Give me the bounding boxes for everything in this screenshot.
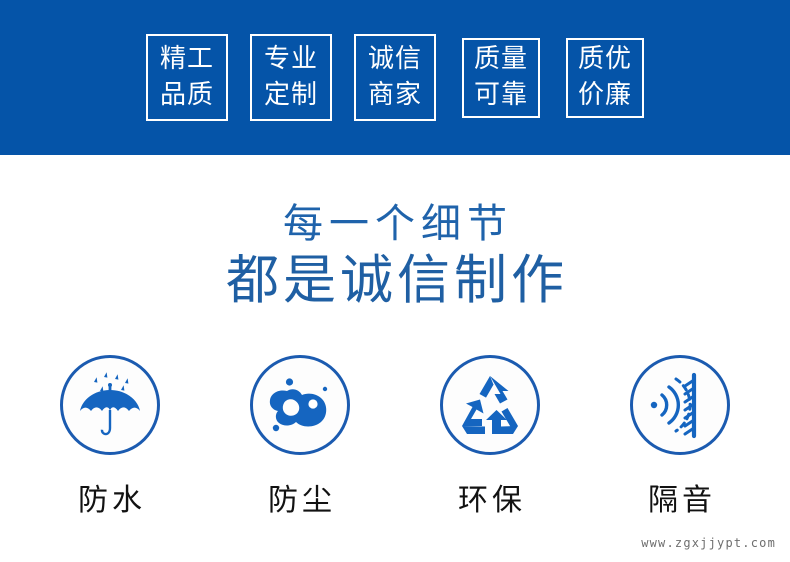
badge-reliable: 质量 可靠: [462, 38, 540, 118]
badge-reliable-line2: 可靠: [474, 78, 528, 114]
badge-reliable-line1: 质量: [474, 42, 528, 78]
badge-value-line1: 质优: [578, 42, 632, 78]
feature-dustproof-circle: [250, 355, 350, 455]
feature-waterproof-label: 防水: [74, 475, 146, 519]
badge-integrity: 诚信 商家: [354, 34, 436, 121]
feature-waterproof: 防水: [15, 355, 205, 519]
feature-soundproof-circle: [630, 355, 730, 455]
badge-value-line2: 价廉: [578, 78, 632, 114]
badge-customization: 专业 定制: [250, 34, 332, 121]
sound-barrier-icon: [647, 370, 713, 440]
feature-eco: 环保: [395, 355, 585, 519]
feature-eco-circle: [440, 355, 540, 455]
headline-line-2: 都是诚信制作: [0, 250, 790, 312]
badge-row: 精工 品质 专业 定制 诚信 商家 质量 可靠 质优 价廉: [0, 0, 790, 155]
badge-customization-line1: 专业: [264, 42, 318, 78]
feature-soundproof: 隔音: [585, 355, 775, 519]
feature-row: 防水 防尘: [0, 355, 790, 519]
badge-craftsmanship-line1: 精工: [160, 42, 214, 78]
badge-craftsmanship: 精工 品质: [146, 34, 228, 121]
badge-integrity-line2: 商家: [368, 78, 422, 114]
top-blue-banner: 精工 品质 专业 定制 诚信 商家 质量 可靠 质优 价廉: [0, 0, 790, 155]
dust-cloud-icon: [263, 373, 337, 437]
feature-waterproof-circle: [60, 355, 160, 455]
badge-integrity-line1: 诚信: [368, 42, 422, 78]
umbrella-rain-icon: [74, 370, 146, 440]
feature-dustproof: 防尘: [205, 355, 395, 519]
feature-eco-label: 环保: [454, 475, 526, 519]
feature-dustproof-label: 防尘: [264, 475, 336, 519]
promo-banner-page: 精工 品质 专业 定制 诚信 商家 质量 可靠 质优 价廉: [0, 0, 790, 562]
badge-craftsmanship-line2: 品质: [160, 78, 214, 114]
badge-customization-line2: 定制: [264, 78, 318, 114]
site-watermark: www.zgxjjypt.com: [641, 536, 776, 550]
recycle-icon: [455, 370, 525, 440]
headline-line-1: 每一个细节: [0, 200, 790, 248]
feature-soundproof-label: 隔音: [644, 475, 716, 519]
headline-block: 每一个细节 都是诚信制作: [0, 200, 790, 312]
badge-value: 质优 价廉: [566, 38, 644, 118]
